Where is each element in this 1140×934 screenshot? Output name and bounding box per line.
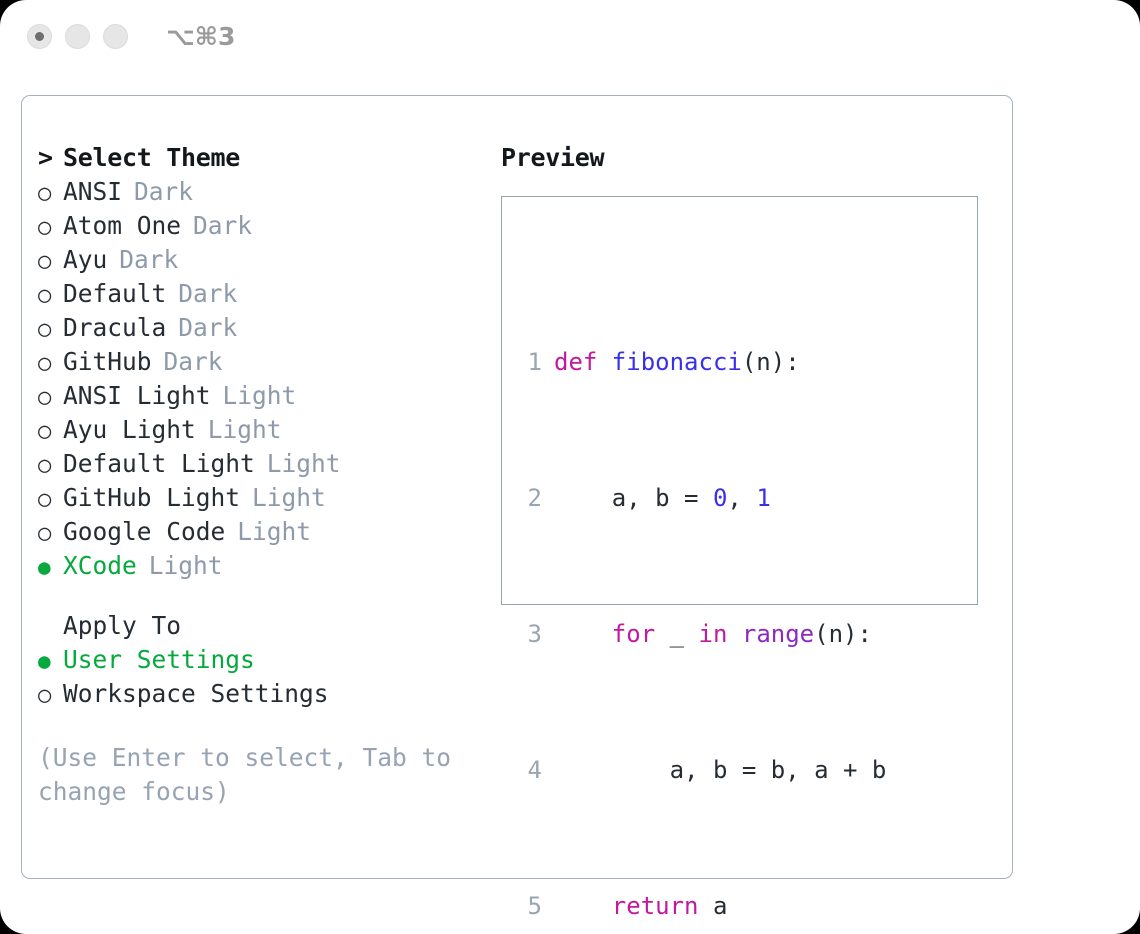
- apply-to-heading: ○Apply To: [38, 609, 488, 643]
- theme-option-atom-one-dark[interactable]: ○Atom OneDark: [38, 209, 488, 243]
- theme-name: XCode: [63, 549, 137, 583]
- theme-option-google-code-light[interactable]: ○Google CodeLight: [38, 515, 488, 549]
- token-plain: _: [655, 620, 698, 648]
- hint-spacer: [38, 711, 488, 737]
- theme-name: ANSI Light: [63, 379, 211, 413]
- apply-to-option-user-settings[interactable]: ●User Settings: [38, 643, 488, 677]
- apply-to-heading-label: Apply To: [63, 609, 181, 643]
- token-plain: a, b =: [554, 484, 713, 512]
- theme-option-ansi-dark[interactable]: ○ANSIDark: [38, 175, 488, 209]
- theme-variant: Dark: [107, 243, 178, 277]
- token-function: fibonacci: [612, 348, 742, 376]
- keyboard-hint-text: (Use Enter to select, Tab to change focu…: [38, 741, 458, 809]
- theme-name: Ayu: [63, 243, 107, 277]
- preview-title-label: Preview: [501, 141, 991, 175]
- window-button-minimize[interactable]: [65, 24, 90, 49]
- radio-unselected-icon: ○: [38, 245, 63, 279]
- preview-column: Preview 1def fibonacci(n): 2 a, b = 0, 1…: [501, 141, 991, 605]
- app-window: ⌥⌘3 >Select Theme ○ANSIDark ○Atom OneDar…: [0, 0, 1140, 934]
- radio-selected-icon: ●: [38, 550, 63, 584]
- theme-variant: Light: [137, 549, 223, 583]
- line-number: 3: [520, 617, 542, 651]
- theme-option-default-dark[interactable]: ○DefaultDark: [38, 277, 488, 311]
- window-controls: [27, 24, 128, 49]
- radio-selected-icon: ●: [38, 644, 63, 678]
- theme-name: Default Light: [63, 447, 255, 481]
- keyboard-shortcut-label: ⌥⌘3: [166, 22, 235, 51]
- token-number: 0: [713, 484, 727, 512]
- token-builtin: range: [742, 620, 814, 648]
- theme-variant: Light: [196, 413, 282, 447]
- token-plain: a, b = b, a + b: [554, 756, 886, 784]
- theme-name: GitHub Light: [63, 481, 240, 515]
- select-theme-heading-label: Select Theme: [63, 141, 240, 175]
- theme-option-default-light[interactable]: ○Default LightLight: [38, 447, 488, 481]
- token-keyword: for: [612, 620, 655, 648]
- theme-name: Ayu Light: [63, 413, 196, 447]
- code-line: 3 for _ in range(n):: [520, 617, 913, 651]
- line-number: 5: [520, 889, 542, 923]
- window-button-maximize[interactable]: [103, 24, 128, 49]
- theme-variant: Dark: [152, 345, 223, 379]
- token-param: n: [756, 348, 770, 376]
- preview-box: 1def fibonacci(n): 2 a, b = 0, 1 3 for _…: [501, 196, 978, 605]
- token-plain: [727, 620, 741, 648]
- theme-option-ansi-light[interactable]: ○ANSI LightLight: [38, 379, 488, 413]
- theme-option-github-light[interactable]: ○GitHub LightLight: [38, 481, 488, 515]
- theme-option-github-dark[interactable]: ○GitHubDark: [38, 345, 488, 379]
- token-plain: ):: [771, 348, 800, 376]
- radio-unselected-icon: ○: [38, 313, 63, 347]
- theme-name: GitHub: [63, 345, 152, 379]
- radio-unselected-icon: ○: [38, 449, 63, 483]
- radio-unselected-icon: ○: [38, 415, 63, 449]
- token-plain: a: [699, 892, 728, 920]
- theme-name: Default: [63, 277, 166, 311]
- code-line: 2 a, b = 0, 1: [520, 481, 913, 515]
- radio-unselected-icon: ○: [38, 347, 63, 381]
- panel-columns: >Select Theme ○ANSIDark ○Atom OneDark ○A…: [22, 96, 1012, 878]
- token-keyword: in: [699, 620, 728, 648]
- token-number: 1: [756, 484, 770, 512]
- code-sample: 1def fibonacci(n): 2 a, b = 0, 1 3 for _…: [520, 243, 913, 934]
- section-spacer: [38, 583, 488, 609]
- code-line: 5 return a: [520, 889, 913, 923]
- theme-option-dracula-dark[interactable]: ○DraculaDark: [38, 311, 488, 345]
- close-dot-icon: [35, 32, 44, 41]
- token-plain: (: [742, 348, 756, 376]
- line-number: 1: [520, 345, 542, 379]
- radio-unselected-icon: ○: [38, 517, 63, 551]
- apply-to-option-label: User Settings: [63, 643, 255, 677]
- theme-variant: Light: [225, 515, 311, 549]
- token-plain: [554, 892, 612, 920]
- radio-unselected-icon: ○: [38, 483, 63, 517]
- window-button-close[interactable]: [27, 24, 52, 49]
- code-line: 4 a, b = b, a + b: [520, 753, 913, 787]
- window-titlebar: ⌥⌘3: [0, 0, 1140, 78]
- theme-list-column: >Select Theme ○ANSIDark ○Atom OneDark ○A…: [38, 141, 488, 809]
- theme-variant: Dark: [181, 209, 252, 243]
- theme-variant: Light: [255, 447, 341, 481]
- token-plain: (n):: [814, 620, 872, 648]
- line-number: 2: [520, 481, 542, 515]
- token-keyword: def: [554, 348, 612, 376]
- radio-unselected-icon: ○: [38, 211, 63, 245]
- line-number: 4: [520, 753, 542, 787]
- theme-variant: Light: [211, 379, 297, 413]
- theme-option-ayu-dark[interactable]: ○AyuDark: [38, 243, 488, 277]
- token-keyword: return: [612, 892, 699, 920]
- theme-variant: Dark: [122, 175, 193, 209]
- theme-variant: Dark: [166, 277, 237, 311]
- theme-name: Dracula: [63, 311, 166, 345]
- spacer-icon: ○: [38, 611, 63, 645]
- theme-option-xcode-light[interactable]: ●XCodeLight: [38, 549, 488, 583]
- theme-name: ANSI: [63, 175, 122, 209]
- theme-name: Google Code: [63, 515, 225, 549]
- heading-caret-icon: >: [38, 141, 63, 175]
- theme-picker-panel: >Select Theme ○ANSIDark ○Atom OneDark ○A…: [21, 95, 1013, 879]
- token-plain: [554, 620, 612, 648]
- theme-variant: Light: [240, 481, 326, 515]
- token-plain: ,: [727, 484, 756, 512]
- radio-unselected-icon: ○: [38, 381, 63, 415]
- theme-option-ayu-light[interactable]: ○Ayu LightLight: [38, 413, 488, 447]
- radio-unselected-icon: ○: [38, 679, 63, 713]
- theme-variant: Dark: [166, 311, 237, 345]
- code-line: 1def fibonacci(n):: [520, 345, 913, 379]
- radio-unselected-icon: ○: [38, 177, 63, 211]
- theme-name: Atom One: [63, 209, 181, 243]
- apply-to-option-workspace-settings[interactable]: ○Workspace Settings: [38, 677, 488, 711]
- apply-to-option-label: Workspace Settings: [63, 677, 329, 711]
- select-theme-heading: >Select Theme: [38, 141, 488, 175]
- radio-unselected-icon: ○: [38, 279, 63, 313]
